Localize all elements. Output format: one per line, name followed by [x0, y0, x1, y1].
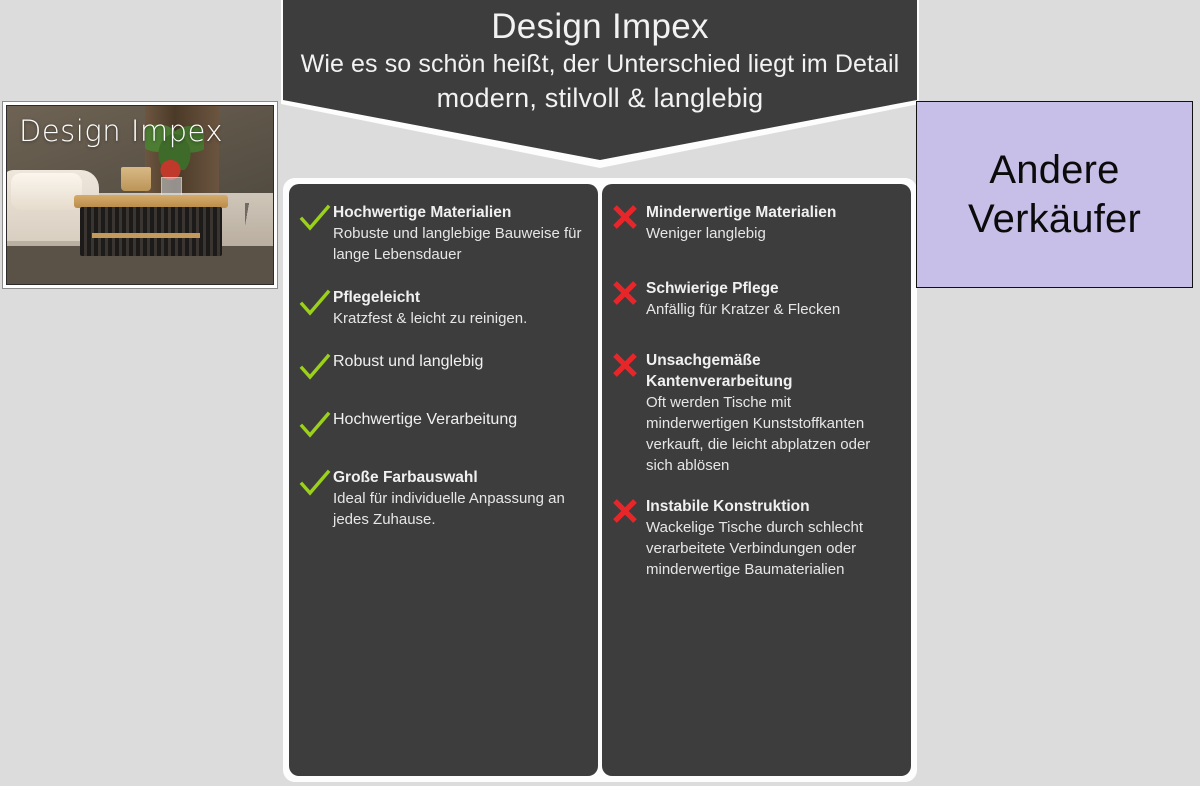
list-item: Hochwertige Materialien Robuste und lang… [299, 202, 584, 265]
photo-overlay-brand: Design Impex [7, 114, 273, 148]
pros-panel: Hochwertige Materialien Robuste und lang… [289, 184, 598, 776]
header-banner: Design Impex Wie es so schön heißt, der … [283, 0, 917, 160]
list-item-desc: Wackelige Tische durch schlecht verarbei… [646, 517, 897, 580]
list-item-desc: Oft werden Tische mit minderwertigen Kun… [646, 392, 897, 476]
list-item-title: Große Farbauswahl [333, 467, 584, 488]
photo-pot [121, 167, 150, 192]
close-icon [612, 280, 646, 310]
product-photo-frame: Design Impex [2, 101, 278, 289]
list-item: Minderwertige Materialien Weniger langle… [612, 202, 897, 244]
list-item-title: Unsachgemäße Kantenverarbeitung [646, 350, 897, 392]
header-subtitle-secondary: modern, stilvoll & langlebig [283, 81, 917, 116]
list-item: Große Farbauswahl Ideal für individuelle… [299, 467, 584, 530]
list-item-desc: Ideal für individuelle Anpassung an jede… [333, 488, 584, 530]
check-icon [299, 204, 333, 234]
photo-coffee-table [74, 195, 228, 256]
list-item: Schwierige Pflege Anfällig für Kratzer &… [612, 278, 897, 320]
list-item: Unsachgemäße Kantenverarbeitung Oft werd… [612, 350, 897, 476]
other-sellers-label: Andere Verkäufer [917, 146, 1192, 244]
list-item: Pflegeleicht Kratzfest & leicht zu reini… [299, 287, 584, 329]
photo-table-shelf [92, 233, 200, 238]
list-item-desc: Anfällig für Kratzer & Flecken [646, 299, 897, 320]
list-item-desc: Kratzfest & leicht zu reinigen. [333, 308, 584, 329]
check-icon [299, 353, 333, 383]
cons-panel: Minderwertige Materialien Weniger langle… [602, 184, 911, 776]
check-icon [299, 411, 333, 441]
page-title: Design Impex [283, 0, 917, 48]
list-item: Hochwertige Verarbeitung [299, 409, 584, 441]
list-item-desc: Weniger langlebig [646, 223, 897, 244]
list-item-title: Hochwertige Materialien [333, 202, 584, 223]
list-item-title: Instabile Konstruktion [646, 496, 897, 517]
product-photo: Design Impex [6, 105, 274, 285]
list-item: Instabile Konstruktion Wackelige Tische … [612, 496, 897, 580]
list-item: Robust und langlebig [299, 351, 584, 383]
photo-table-body [80, 207, 222, 255]
list-item-title: Schwierige Pflege [646, 278, 897, 299]
list-item-title: Hochwertige Verarbeitung [333, 409, 584, 430]
check-icon [299, 289, 333, 319]
list-item-title: Minderwertige Materialien [646, 202, 897, 223]
list-item-title: Robust und langlebig [333, 351, 584, 372]
check-icon [299, 469, 333, 499]
close-icon [612, 498, 646, 528]
other-sellers-box: Andere Verkäufer [916, 101, 1193, 288]
comparison-panels: Hochwertige Materialien Robuste und lang… [283, 178, 917, 782]
list-item-desc: Robuste und langlebige Bauweise für lang… [333, 223, 584, 265]
header-subtitle-primary: Wie es so schön heißt, der Unterschied l… [283, 48, 917, 81]
close-icon [612, 352, 646, 382]
close-icon [612, 204, 646, 234]
list-item-title: Pflegeleicht [333, 287, 584, 308]
